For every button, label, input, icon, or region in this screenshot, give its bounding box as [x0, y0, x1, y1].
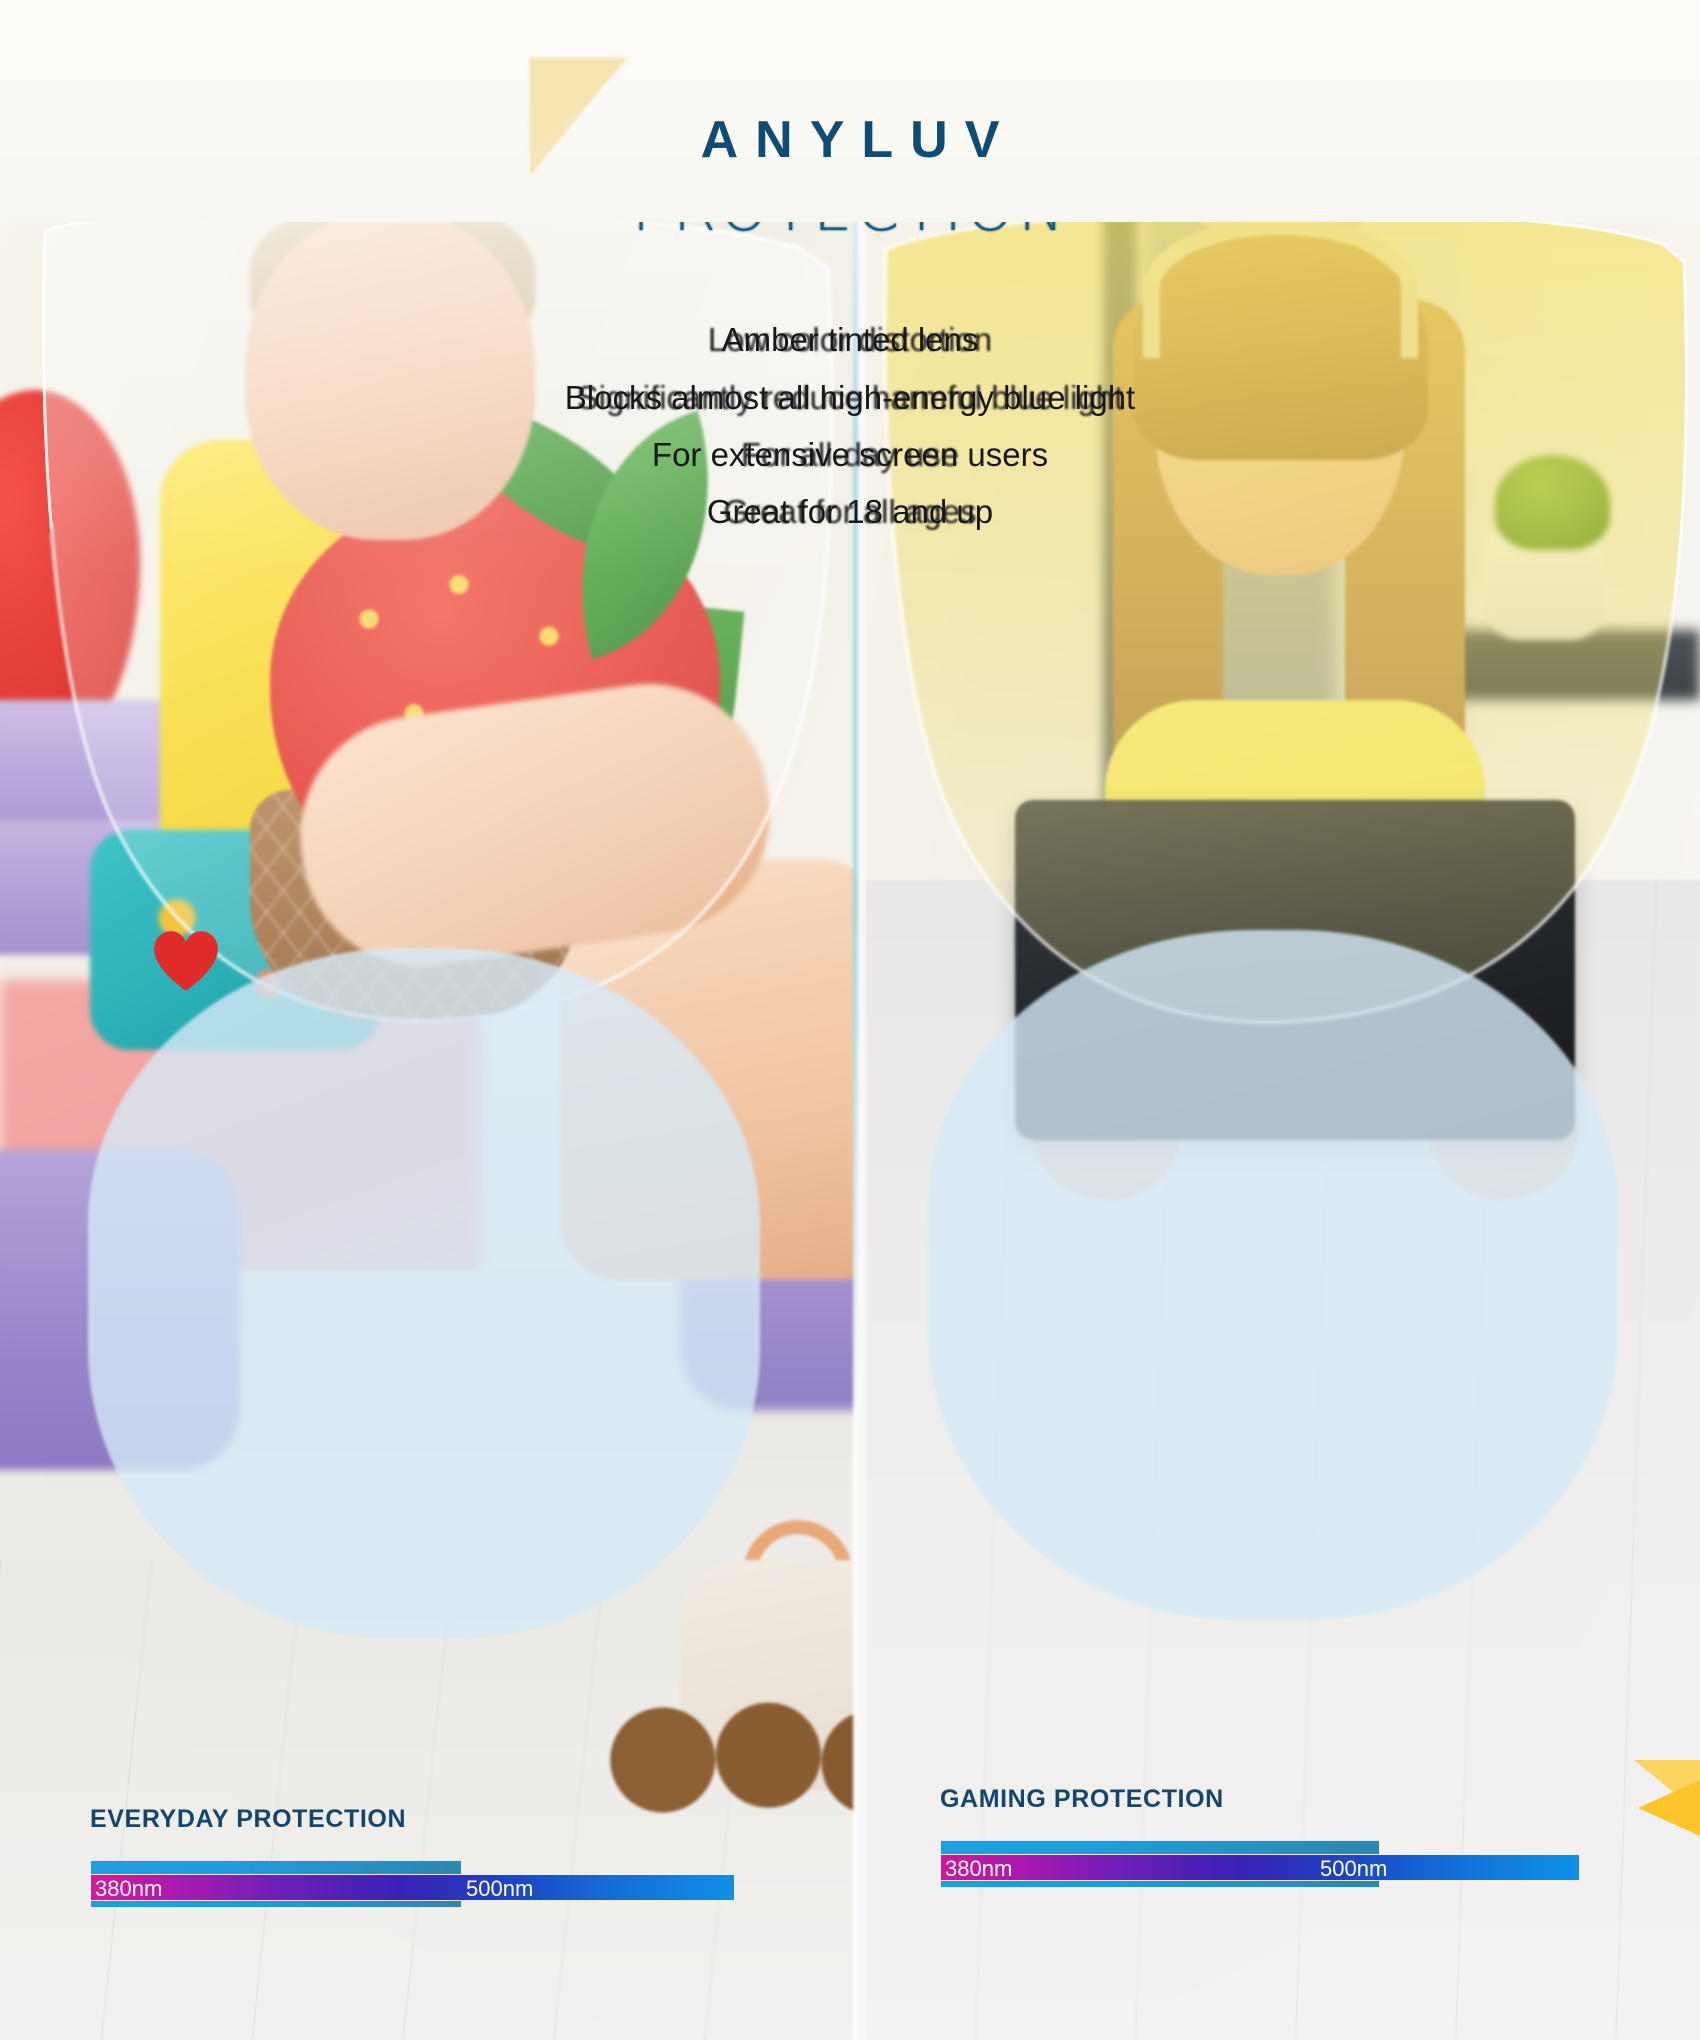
- spectrum-label-380: 380nm: [95, 1878, 162, 1900]
- spectrum-inner-bar: [90, 1874, 735, 1901]
- legend-title-everyday: EVERYDAY PROTECTION: [90, 1805, 770, 1834]
- heart-icon: [152, 930, 220, 992]
- spectrum-bar-gaming: 380nm 500nm: [940, 1832, 1620, 1896]
- brand-logo: ANYLUV: [0, 110, 1700, 170]
- card-bullets-gaming: Amber tinted lens Blocks almost all high…: [565, 319, 1135, 532]
- spectrum-bar-everyday: 380nm 500nm: [90, 1852, 770, 1916]
- spectrum-inner-bar: [940, 1854, 1580, 1881]
- bullet-item: Blocks almost all high-energy blue light: [565, 377, 1135, 418]
- bullet-item: Great for 18 and up: [707, 491, 993, 532]
- corner-triangle-icon: [1638, 1780, 1700, 1836]
- bullet-item: Amber tinted lens: [722, 319, 979, 360]
- legend-gaming: GAMING PROTECTION 380nm 500nm: [940, 1785, 1620, 1896]
- bullet-item: For extensive screen users: [652, 434, 1048, 475]
- legend-title-gaming: GAMING PROTECTION: [940, 1785, 1620, 1814]
- spectrum-label-500: 500nm: [466, 1878, 533, 1900]
- spectrum-label-500: 500nm: [1320, 1858, 1387, 1880]
- infographic-page: ANYLUV EVERYDAY PROTECTION Low color dis…: [0, 0, 1700, 2040]
- card-gaming-content: GAMING PROTECTION Amber tinted lens Bloc…: [0, 0, 1700, 2040]
- spectrum-label-380: 380nm: [945, 1858, 1012, 1880]
- legend-everyday: EVERYDAY PROTECTION 380nm 500nm: [90, 1805, 770, 1916]
